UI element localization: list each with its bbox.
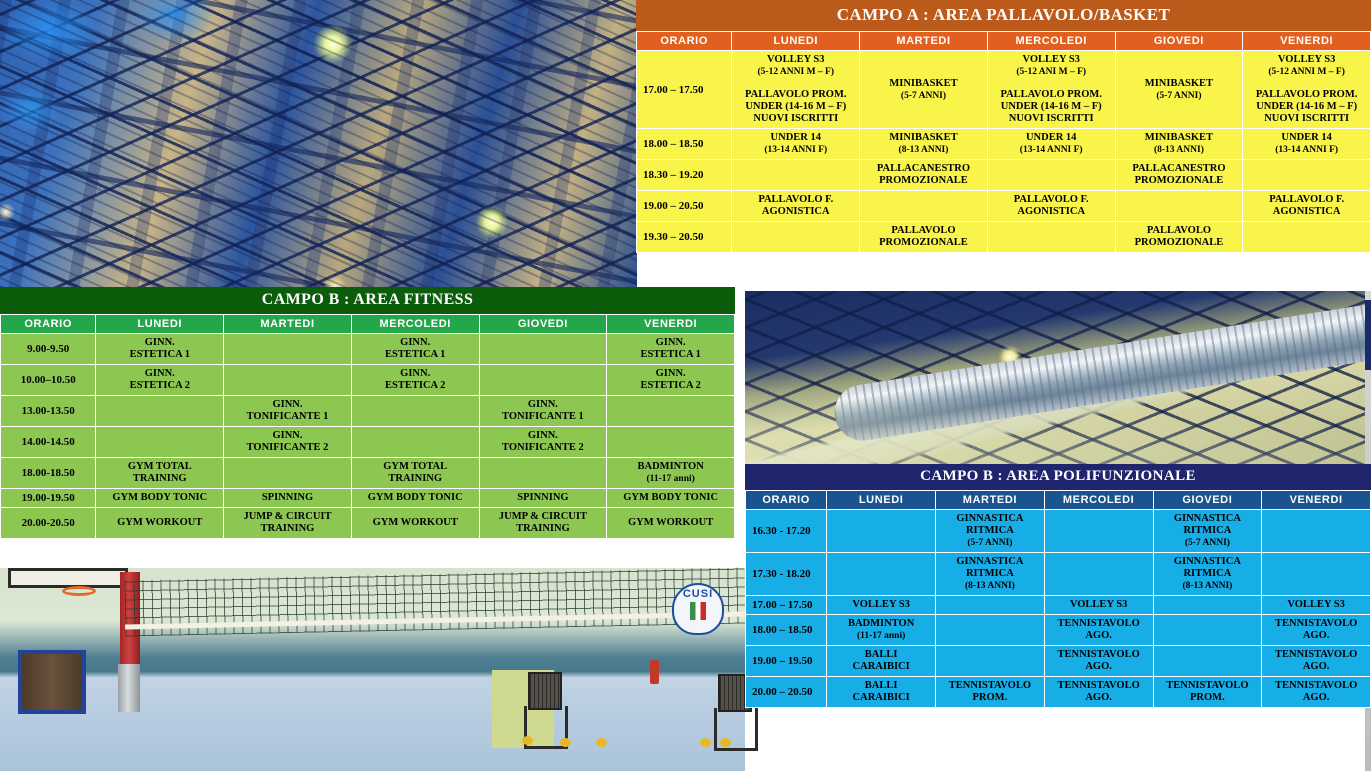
activity-line: BADMINTON	[829, 618, 933, 630]
gym-floor-marker	[560, 738, 571, 747]
activity-cell: GINN.ESTETICA 1	[607, 334, 735, 365]
activity-line: (5-12 ANI M – F)	[990, 66, 1113, 78]
activity-line: BALLI	[829, 680, 933, 692]
activity-line: SPINNING	[226, 492, 349, 504]
column-header-mercoledi: MERCOLEDI	[1044, 491, 1153, 510]
activity-line: TENNISTAVOLO	[1264, 618, 1368, 630]
column-header-giovedi: GIOVEDI	[479, 315, 607, 334]
schedule-campo-a: CAMPO A : AREA PALLAVOLO/BASKET ORARIOLU…	[636, 0, 1371, 253]
time-slot-cell: 20.00-20.50	[1, 508, 96, 539]
activity-line: TENNISTAVOLO	[1047, 649, 1151, 661]
activity-cell: GINNASTICARITMICA(5-7 ANNI)	[936, 510, 1045, 553]
activity-line: TENNISTAVOLO	[1264, 649, 1368, 661]
activity-line: MINIBASKET	[862, 78, 985, 90]
activity-cell	[1044, 553, 1153, 596]
time-slot-cell: 13.00-13.50	[1, 396, 96, 427]
activity-cell	[732, 222, 860, 253]
activity-line: GYM WORKOUT	[98, 517, 221, 529]
activity-cell: BALLICARAIBICI	[827, 677, 936, 708]
activity-line: GYM TOTAL	[98, 461, 221, 473]
activity-cell: TENNISTAVOLOPROM.	[936, 677, 1045, 708]
time-slot-cell: 17.00 – 17.50	[746, 596, 827, 615]
activity-cell: VOLLEY S3	[1044, 596, 1153, 615]
activity-line: ESTETICA 1	[609, 349, 732, 361]
activity-line: AGONISTICA	[734, 206, 857, 218]
activity-cell: JUMP & CIRCUITTRAINING	[224, 508, 352, 539]
activity-cell	[351, 396, 479, 427]
activity-cell	[479, 365, 607, 396]
column-header-giovedi: GIOVEDI	[1153, 491, 1262, 510]
activity-line: CARAIBICI	[829, 661, 933, 673]
activity-cell: TENNISTAVOLOAGO.	[1044, 646, 1153, 677]
activity-line: GINN.	[482, 430, 605, 442]
activity-cell	[936, 615, 1045, 646]
column-header-orario: ORARIO	[637, 32, 732, 51]
activity-cell	[1243, 222, 1371, 253]
column-header-martedi: MARTEDI	[936, 491, 1045, 510]
table-row: 18.00 – 18.50BADMINTON(11-17 anni)TENNIS…	[746, 615, 1371, 646]
time-slot-cell: 19.30 – 20.50	[637, 222, 732, 253]
activity-line: PALLAVOLO F.	[990, 194, 1113, 206]
activity-cell: GYM WORKOUT	[607, 508, 735, 539]
activity-line: (11-17 anni)	[609, 473, 732, 485]
column-header-lunedi: LUNEDI	[732, 32, 860, 51]
activity-line: GYM WORKOUT	[354, 517, 477, 529]
activity-cell: GINN.ESTETICA 2	[96, 365, 224, 396]
column-header-giovedi: GIOVEDI	[1115, 32, 1243, 51]
activity-cell: TENNISTAVOLOPROM.	[1153, 677, 1262, 708]
fire-extinguisher-icon	[650, 660, 659, 684]
activity-cell: PALLAVOLOPROMOZIONALE	[1115, 222, 1243, 253]
activity-cell	[1044, 510, 1153, 553]
activity-line: ESTETICA 2	[354, 380, 477, 392]
gym-floor-marker	[700, 738, 711, 747]
line-gap	[990, 78, 1113, 89]
campo-b-fitness-header-row: ORARIOLUNEDIMARTEDIMERCOLEDIGIOVEDIVENER…	[1, 315, 735, 334]
activity-line: UNDER (14-16 M – F)	[1245, 101, 1368, 113]
campo-a-body: 17.00 – 17.50VOLLEY S3(5-12 ANNI M – F)P…	[637, 51, 1371, 253]
activity-line: PALLAVOLO F.	[734, 194, 857, 206]
gym-chair	[522, 672, 564, 744]
activity-line: TONIFICANTE 2	[482, 442, 605, 454]
table-row: 9.00-9.50GINN.ESTETICA 1GINN.ESTETICA 1G…	[1, 334, 735, 365]
activity-line: GYM BODY TONIC	[98, 492, 221, 504]
activity-line: RITMICA	[938, 568, 1042, 580]
activity-line: (11-17 anni)	[829, 630, 933, 642]
activity-line: TRAINING	[354, 473, 477, 485]
activity-cell	[224, 458, 352, 489]
activity-line: VOLLEY S3	[1245, 54, 1368, 66]
activity-cell: BADMINTON(11-17 anni)	[827, 615, 936, 646]
table-row: 16.30 - 17.20GINNASTICARITMICA(5-7 ANNI)…	[746, 510, 1371, 553]
table-row: 13.00-13.50GINN.TONIFICANTE 1GINN.TONIFI…	[1, 396, 735, 427]
activity-line: VOLLEY S3	[1047, 599, 1151, 611]
activity-line: MINIBASKET	[862, 132, 985, 144]
table-row: 18.00-18.50GYM TOTALTRAININGGYM TOTALTRA…	[1, 458, 735, 489]
table-row: 18.30 – 19.20PALLACANESTROPROMOZIONALEPA…	[637, 160, 1371, 191]
time-slot-cell: 14.00-14.50	[1, 427, 96, 458]
activity-line: GYM BODY TONIC	[609, 492, 732, 504]
activity-cell	[1262, 553, 1371, 596]
activity-cell: GYM WORKOUT	[351, 508, 479, 539]
activity-line: GINNASTICA	[1156, 513, 1260, 525]
activity-line: AGO.	[1264, 692, 1368, 704]
activity-line: (13-14 ANNI F)	[734, 144, 857, 156]
activity-cell: UNDER 14(13-14 ANNI F)	[732, 129, 860, 160]
slide-canvas: CUSI CAMPO A : AREA PALLAVOLO/BASKET ORA…	[0, 0, 1371, 771]
campo-b-poli-header-row: ORARIOLUNEDIMARTEDIMERCOLEDIGIOVEDIVENER…	[746, 491, 1371, 510]
activity-line: ESTETICA 1	[98, 349, 221, 361]
activity-line: AGO.	[1047, 630, 1151, 642]
activity-line: GYM BODY TONIC	[354, 492, 477, 504]
activity-cell: GINN.TONIFICANTE 2	[479, 427, 607, 458]
column-header-venerdi: VENERDI	[607, 315, 735, 334]
activity-cell: GINN.TONIFICANTE 1	[479, 396, 607, 427]
activity-line: UNDER (14-16 M – F)	[990, 101, 1113, 113]
scrollbar-thumb[interactable]	[1365, 300, 1371, 370]
activity-cell: GINN.ESTETICA 2	[607, 365, 735, 396]
activity-cell: VOLLEY S3(5-12 ANNI M – F)PALLAVOLO PROM…	[1243, 51, 1371, 129]
activity-line: (5-7 ANNI)	[1118, 90, 1241, 102]
activity-line: UNDER 14	[734, 132, 857, 144]
campo-a-table: ORARIOLUNEDIMARTEDIMERCOLEDIGIOVEDIVENER…	[636, 31, 1371, 253]
campo-b-fitness-table: ORARIOLUNEDIMARTEDIMERCOLEDIGIOVEDIVENER…	[0, 314, 735, 539]
activity-line: VOLLEY S3	[1264, 599, 1368, 611]
activity-cell: SPINNING	[224, 489, 352, 508]
cusi-logo-text: CUSI	[683, 588, 713, 600]
activity-cell: MINIBASKET(8-13 ANNI)	[860, 129, 988, 160]
activity-line: (13-14 ANNI F)	[990, 144, 1113, 156]
table-row: 17.00 – 17.50VOLLEY S3(5-12 ANNI M – F)P…	[637, 51, 1371, 129]
photo-ceiling-duct	[745, 291, 1371, 469]
activity-line: GYM WORKOUT	[609, 517, 732, 529]
activity-cell	[96, 396, 224, 427]
table-row: 20.00 – 20.50BALLICARAIBICITENNISTAVOLOP…	[746, 677, 1371, 708]
line-gap	[734, 78, 857, 89]
column-header-lunedi: LUNEDI	[96, 315, 224, 334]
activity-line: GINN.	[354, 337, 477, 349]
activity-cell: PALLACANESTROPROMOZIONALE	[1115, 160, 1243, 191]
time-slot-cell: 19.00-19.50	[1, 489, 96, 508]
activity-line: AGO.	[1047, 692, 1151, 704]
activity-line: PALLAVOLO PROM.	[734, 89, 857, 101]
table-row: 18.00 – 18.50UNDER 14(13-14 ANNI F)MINIB…	[637, 129, 1371, 160]
volleyball-net-post-base	[118, 664, 140, 712]
photo-ceiling-blue	[0, 0, 637, 291]
gym-floor-marker	[522, 736, 533, 745]
activity-line: VOLLEY S3	[829, 599, 933, 611]
activity-cell: VOLLEY S3(5-12 ANNI M – F)PALLAVOLO PROM…	[732, 51, 860, 129]
time-slot-cell: 16.30 - 17.20	[746, 510, 827, 553]
activity-cell: GYM WORKOUT	[96, 508, 224, 539]
activity-cell: PALLAVOLO F.AGONISTICA	[1243, 191, 1371, 222]
table-row: 19.00 – 19.50BALLICARAIBICITENNISTAVOLOA…	[746, 646, 1371, 677]
activity-line: RITMICA	[1156, 525, 1260, 537]
time-slot-cell: 17.30 - 18.20	[746, 553, 827, 596]
activity-line: TRAINING	[482, 523, 605, 535]
activity-cell: GYM BODY TONIC	[607, 489, 735, 508]
activity-line: GINNASTICA	[938, 513, 1042, 525]
campo-b-poli-body: 16.30 - 17.20GINNASTICARITMICA(5-7 ANNI)…	[746, 510, 1371, 708]
time-slot-cell: 10.00–10.50	[1, 365, 96, 396]
activity-line: JUMP & CIRCUIT	[482, 511, 605, 523]
activity-cell	[1243, 160, 1371, 191]
column-header-venerdi: VENERDI	[1262, 491, 1371, 510]
activity-cell: UNDER 14(13-14 ANNI F)	[987, 129, 1115, 160]
activity-cell	[1153, 646, 1262, 677]
activity-line: TRAINING	[98, 473, 221, 485]
activity-cell: PALLAVOLO F.AGONISTICA	[732, 191, 860, 222]
activity-line: TRAINING	[226, 523, 349, 535]
activity-cell	[827, 510, 936, 553]
activity-cell: GINN.TONIFICANTE 2	[224, 427, 352, 458]
activity-line: GINNASTICA	[1156, 556, 1260, 568]
activity-line: (5-7 ANNI)	[862, 90, 985, 102]
activity-line: ESTETICA 1	[354, 349, 477, 361]
activity-line: NUOVI ISCRITTI	[990, 113, 1113, 125]
activity-line: PALLAVOLO	[1118, 225, 1241, 237]
activity-cell: GINNASTICARITMICA(8-13 ANNI)	[1153, 553, 1262, 596]
time-slot-cell: 19.00 – 19.50	[746, 646, 827, 677]
activity-cell: TENNISTAVOLOAGO.	[1262, 615, 1371, 646]
table-row: 19.00 – 20.50PALLAVOLO F.AGONISTICAPALLA…	[637, 191, 1371, 222]
activity-line: ESTETICA 2	[609, 380, 732, 392]
activity-line: AGONISTICA	[1245, 206, 1368, 218]
table-row: 19.00-19.50GYM BODY TONICSPINNINGGYM BOD…	[1, 489, 735, 508]
activity-cell: GINN.ESTETICA 1	[96, 334, 224, 365]
activity-line: PROMOZIONALE	[862, 175, 985, 187]
activity-line: GINN.	[226, 399, 349, 411]
activity-cell	[936, 596, 1045, 615]
activity-line: AGO.	[1264, 661, 1368, 673]
activity-line: PROMOZIONALE	[862, 237, 985, 249]
activity-cell	[936, 646, 1045, 677]
activity-line: SPINNING	[482, 492, 605, 504]
activity-cell	[96, 427, 224, 458]
activity-cell: MINIBASKET(8-13 ANNI)	[1115, 129, 1243, 160]
gym-door	[18, 650, 86, 714]
activity-cell	[479, 458, 607, 489]
activity-line: ESTETICA 2	[98, 380, 221, 392]
activity-cell: GINN.ESTETICA 1	[351, 334, 479, 365]
activity-line: MINIBASKET	[1118, 78, 1241, 90]
gym-floor-marker	[720, 738, 731, 747]
activity-line: VOLLEY S3	[734, 54, 857, 66]
activity-cell: TENNISTAVOLOAGO.	[1262, 646, 1371, 677]
activity-line: TENNISTAVOLO	[1047, 680, 1151, 692]
activity-cell: BADMINTON(11-17 anni)	[607, 458, 735, 489]
activity-cell: PALLACANESTROPROMOZIONALE	[860, 160, 988, 191]
campo-a-title: CAMPO A : AREA PALLAVOLO/BASKET	[636, 0, 1371, 31]
activity-line: PROMOZIONALE	[1118, 237, 1241, 249]
activity-line: JUMP & CIRCUIT	[226, 511, 349, 523]
activity-line: GINN.	[98, 368, 221, 380]
activity-cell	[479, 334, 607, 365]
activity-cell: VOLLEY S3(5-12 ANI M – F)PALLAVOLO PROM.…	[987, 51, 1115, 129]
activity-line: TENNISTAVOLO	[938, 680, 1042, 692]
activity-cell	[607, 427, 735, 458]
activity-line: AGO.	[1047, 661, 1151, 673]
activity-cell: VOLLEY S3	[1262, 596, 1371, 615]
time-slot-cell: 18.00-18.50	[1, 458, 96, 489]
activity-line: PROMOZIONALE	[1118, 175, 1241, 187]
gym-floor-marker	[596, 738, 607, 747]
activity-line: (5-7 ANNI)	[938, 537, 1042, 549]
activity-line: PALLAVOLO	[862, 225, 985, 237]
activity-cell: MINIBASKET(5-7 ANNI)	[860, 51, 988, 129]
activity-cell: TENNISTAVOLOAGO.	[1044, 677, 1153, 708]
activity-cell: TENNISTAVOLOAGO.	[1262, 677, 1371, 708]
activity-line: CARAIBICI	[829, 692, 933, 704]
activity-line: TENNISTAVOLO	[1156, 680, 1260, 692]
activity-cell: SPINNING	[479, 489, 607, 508]
activity-line: RITMICA	[938, 525, 1042, 537]
activity-cell	[1115, 191, 1243, 222]
activity-line: (5-12 ANNI M – F)	[1245, 66, 1368, 78]
activity-line: BALLI	[829, 649, 933, 661]
activity-cell: TENNISTAVOLOAGO.	[1044, 615, 1153, 646]
activity-cell: GYM TOTALTRAINING	[351, 458, 479, 489]
activity-line: TONIFICANTE 1	[226, 411, 349, 423]
activity-line: VOLLEY S3	[990, 54, 1113, 66]
table-row: 14.00-14.50GINN.TONIFICANTE 2GINN.TONIFI…	[1, 427, 735, 458]
activity-line: (5-7 ANNI)	[1156, 537, 1260, 549]
activity-line: PALLACANESTRO	[1118, 163, 1241, 175]
activity-line: PALLACANESTRO	[862, 163, 985, 175]
schedule-campo-b-fitness: CAMPO B : AREA FITNESS ORARIOLUNEDIMARTE…	[0, 287, 735, 539]
schedule-campo-b-polifunzionale: CAMPO B : AREA POLIFUNZIONALE ORARIOLUNE…	[745, 464, 1371, 708]
activity-cell: GINN.TONIFICANTE 1	[224, 396, 352, 427]
campo-b-fitness-body: 9.00-9.50GINN.ESTETICA 1GINN.ESTETICA 1G…	[1, 334, 735, 539]
activity-line: NUOVI ISCRITTI	[734, 113, 857, 125]
activity-cell	[987, 222, 1115, 253]
activity-line: BADMINTON	[609, 461, 732, 473]
column-header-mercoledi: MERCOLEDI	[987, 32, 1115, 51]
activity-line: GINN.	[354, 368, 477, 380]
gym-chair	[712, 674, 748, 744]
activity-cell	[1153, 596, 1262, 615]
campo-b-fitness-title: CAMPO B : AREA FITNESS	[0, 287, 735, 314]
time-slot-cell: 18.30 – 19.20	[637, 160, 732, 191]
activity-cell: GYM BODY TONIC	[351, 489, 479, 508]
activity-cell: GYM BODY TONIC	[96, 489, 224, 508]
activity-line: AGO.	[1264, 630, 1368, 642]
activity-line: (8-13 ANNI)	[1156, 580, 1260, 592]
activity-cell	[860, 191, 988, 222]
activity-cell: PALLAVOLOPROMOZIONALE	[860, 222, 988, 253]
activity-cell: GYM TOTALTRAINING	[96, 458, 224, 489]
activity-cell	[224, 365, 352, 396]
column-header-lunedi: LUNEDI	[827, 491, 936, 510]
activity-line: TENNISTAVOLO	[1047, 618, 1151, 630]
activity-line: GINN.	[482, 399, 605, 411]
activity-line: (5-12 ANNI M – F)	[734, 66, 857, 78]
activity-cell	[1262, 510, 1371, 553]
activity-line: PALLAVOLO F.	[1245, 194, 1368, 206]
italian-flag-icon	[690, 602, 706, 620]
campo-b-poli-table: ORARIOLUNEDIMARTEDIMERCOLEDIGIOVEDIVENER…	[745, 490, 1371, 708]
activity-cell: GINN.ESTETICA 2	[351, 365, 479, 396]
activity-cell: GINNASTICARITMICA(5-7 ANNI)	[1153, 510, 1262, 553]
column-header-martedi: MARTEDI	[860, 32, 988, 51]
time-slot-cell: 18.00 – 18.50	[746, 615, 827, 646]
activity-cell	[607, 396, 735, 427]
activity-line: TONIFICANTE 1	[482, 411, 605, 423]
activity-line: RITMICA	[1156, 568, 1260, 580]
activity-cell	[224, 334, 352, 365]
activity-line: PALLAVOLO PROM.	[990, 89, 1113, 101]
activity-line: AGONISTICA	[990, 206, 1113, 218]
activity-cell	[827, 553, 936, 596]
table-row: 17.30 - 18.20GINNASTICARITMICA(8-13 ANNI…	[746, 553, 1371, 596]
time-slot-cell: 9.00-9.50	[1, 334, 96, 365]
column-header-mercoledi: MERCOLEDI	[351, 315, 479, 334]
activity-line: UNDER (14-16 M – F)	[734, 101, 857, 113]
activity-line: (13-14 ANNI F)	[1245, 144, 1368, 156]
activity-cell: UNDER 14(13-14 ANNI F)	[1243, 129, 1371, 160]
activity-cell: BALLICARAIBICI	[827, 646, 936, 677]
basketball-backboard	[8, 568, 128, 588]
activity-line: (8-13 ANNI)	[862, 144, 985, 156]
time-slot-cell: 20.00 – 20.50	[746, 677, 827, 708]
basketball-hoop-icon	[62, 586, 96, 596]
activity-line: PROM.	[938, 692, 1042, 704]
activity-line: GINN.	[609, 337, 732, 349]
activity-line: GINN.	[226, 430, 349, 442]
activity-cell: PALLAVOLO F.AGONISTICA	[987, 191, 1115, 222]
activity-cell: VOLLEY S3	[827, 596, 936, 615]
activity-line: GINN.	[609, 368, 732, 380]
table-row: 17.00 – 17.50VOLLEY S3VOLLEY S3VOLLEY S3	[746, 596, 1371, 615]
column-header-martedi: MARTEDI	[224, 315, 352, 334]
activity-cell	[732, 160, 860, 191]
line-gap	[1245, 78, 1368, 89]
activity-cell	[351, 427, 479, 458]
activity-cell: JUMP & CIRCUITTRAINING	[479, 508, 607, 539]
column-header-venerdi: VENERDI	[1243, 32, 1371, 51]
activity-line: (8-13 ANNI)	[1118, 144, 1241, 156]
time-slot-cell: 17.00 – 17.50	[637, 51, 732, 129]
activity-line: NUOVI ISCRITTI	[1245, 113, 1368, 125]
campo-a-header-row: ORARIOLUNEDIMARTEDIMERCOLEDIGIOVEDIVENER…	[637, 32, 1371, 51]
activity-line: PALLAVOLO PROM.	[1245, 89, 1368, 101]
activity-line: GINNASTICA	[938, 556, 1042, 568]
activity-cell	[1153, 615, 1262, 646]
activity-cell: MINIBASKET(5-7 ANNI)	[1115, 51, 1243, 129]
table-row: 20.00-20.50GYM WORKOUTJUMP & CIRCUITTRAI…	[1, 508, 735, 539]
time-slot-cell: 18.00 – 18.50	[637, 129, 732, 160]
activity-cell: GINNASTICARITMICA(8-13 ANNI)	[936, 553, 1045, 596]
activity-line: UNDER 14	[1245, 132, 1368, 144]
column-header-orario: ORARIO	[746, 491, 827, 510]
time-slot-cell: 19.00 – 20.50	[637, 191, 732, 222]
activity-line: GYM TOTAL	[354, 461, 477, 473]
activity-line: (8-13 ANNI)	[938, 580, 1042, 592]
table-row: 19.30 – 20.50PALLAVOLOPROMOZIONALEPALLAV…	[637, 222, 1371, 253]
activity-line: MINIBASKET	[1118, 132, 1241, 144]
activity-line: TONIFICANTE 2	[226, 442, 349, 454]
activity-cell	[987, 160, 1115, 191]
column-header-orario: ORARIO	[1, 315, 96, 334]
activity-line: TENNISTAVOLO	[1264, 680, 1368, 692]
activity-line: PROM.	[1156, 692, 1260, 704]
table-row: 10.00–10.50GINN.ESTETICA 2GINN.ESTETICA …	[1, 365, 735, 396]
activity-line: GINN.	[98, 337, 221, 349]
cusi-logo: CUSI	[672, 583, 724, 635]
campo-b-poli-title: CAMPO B : AREA POLIFUNZIONALE	[745, 464, 1371, 490]
activity-line: UNDER 14	[990, 132, 1113, 144]
